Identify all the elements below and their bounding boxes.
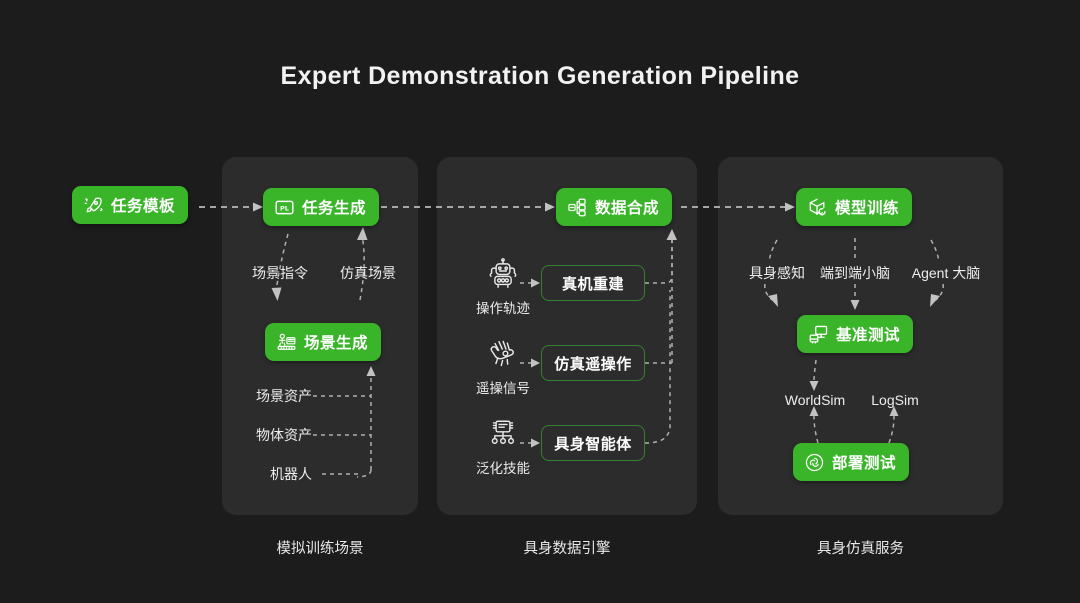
node-label: 部署测试 — [832, 451, 896, 473]
edge-label-worldsim: WorldSim — [772, 392, 858, 408]
box-label: 真机重建 — [562, 273, 624, 294]
source-teleop-signal[interactable]: 遥操信号 — [466, 338, 540, 397]
svg-text:PL: PL — [280, 204, 289, 212]
video-frame-icon: PL — [274, 197, 295, 218]
input-label-object-assets: 物体资产 — [228, 425, 312, 445]
diagram-canvas: Expert Demonstration Generation Pipeline — [0, 0, 1080, 603]
node-label: 任务生成 — [302, 196, 366, 218]
caption-panel-3: 具身仿真服务 — [718, 537, 1003, 558]
edge-label-simulated-scene: 仿真场景 — [326, 263, 410, 283]
node-label: 场景生成 — [304, 331, 368, 353]
box-real-machine-reconstruction[interactable]: 真机重建 — [541, 265, 645, 301]
node-data-synthesis[interactable]: 数据合成 — [556, 188, 672, 226]
data-node-icon — [567, 197, 588, 218]
edge-label-logsim: LogSim — [857, 392, 933, 408]
box-simulated-teleoperation[interactable]: 仿真遥操作 — [541, 345, 645, 381]
deploy-circle-icon — [804, 452, 825, 473]
node-task-template[interactable]: 任务模板 — [72, 186, 188, 224]
node-task-generation[interactable]: PL 任务生成 — [263, 188, 379, 226]
edge-label-scene-instruction: 场景指令 — [238, 263, 322, 283]
caption-panel-1: 模拟训练场景 — [222, 537, 418, 558]
edge-label-end-to-end-cerebellum: 端到端小脑 — [813, 263, 897, 283]
source-operation-trajectory[interactable]: 操作轨迹 — [466, 258, 540, 317]
source-generalized-skill[interactable]: 泛化技能 — [466, 418, 540, 477]
robot-assembly-icon — [276, 332, 297, 353]
node-label: 模型训练 — [835, 196, 899, 218]
node-scene-generation[interactable]: 场景生成 — [265, 323, 381, 361]
node-label: 数据合成 — [595, 196, 659, 218]
input-label-robot: 机器人 — [228, 464, 312, 484]
box-label: 仿真遥操作 — [554, 353, 632, 374]
node-label: 基准测试 — [836, 323, 900, 345]
box-embodied-agent[interactable]: 具身智能体 — [541, 425, 645, 461]
box-label: 具身智能体 — [554, 433, 632, 454]
caption-panel-2: 具身数据引擎 — [437, 537, 697, 558]
source-caption: 泛化技能 — [466, 457, 540, 477]
edge-label-embodied-perception: 具身感知 — [735, 263, 819, 283]
page-title: Expert Demonstration Generation Pipeline — [0, 62, 1080, 91]
rocket-icon — [83, 195, 104, 216]
robot-icon — [485, 258, 521, 292]
network-icon — [485, 418, 521, 452]
source-caption: 遥操信号 — [466, 377, 540, 397]
node-model-training[interactable]: 模型训练 — [796, 188, 912, 226]
node-label: 任务模板 — [111, 194, 175, 216]
source-caption: 操作轨迹 — [466, 297, 540, 317]
cube-refresh-icon — [807, 197, 828, 218]
glove-icon — [485, 338, 521, 372]
edge-label-agent-brain: Agent 大脑 — [898, 263, 994, 283]
node-benchmark-test[interactable]: 基准测试 — [797, 315, 913, 353]
input-label-scene-assets: 场景资产 — [228, 386, 312, 406]
monitor-test-icon — [808, 324, 829, 345]
node-deployment-test[interactable]: 部署测试 — [793, 443, 909, 481]
